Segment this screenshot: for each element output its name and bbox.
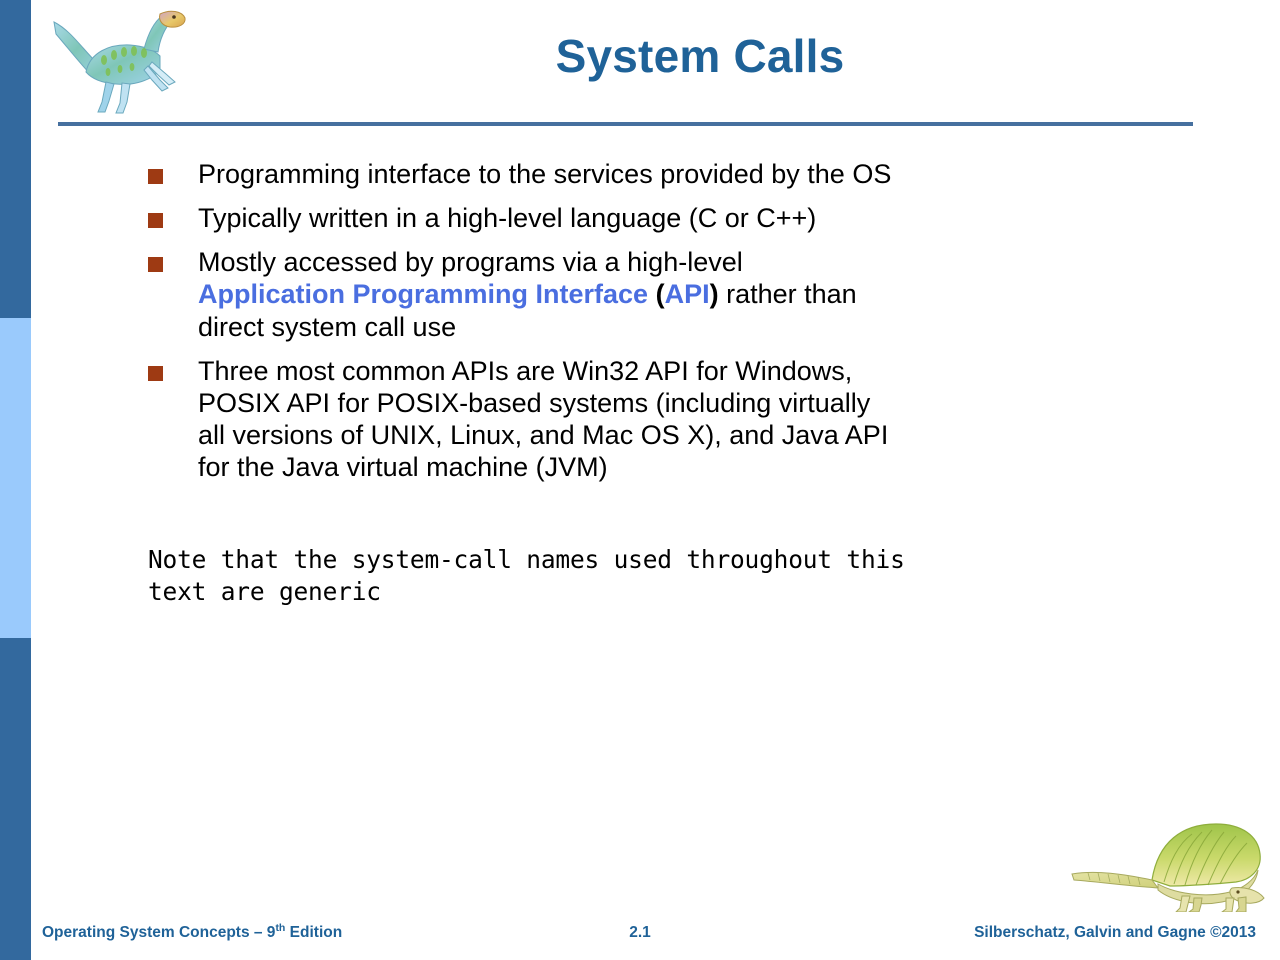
list-item: Three most common APIs are Win32 API for… [148, 355, 1048, 484]
slide-body: Programming interface to the services pr… [0, 140, 1280, 820]
dinosaur-icon [1066, 812, 1266, 912]
bullet-line-tail: rather than [719, 279, 857, 309]
bullet-line: Three most common APIs are Win32 API for… [198, 355, 1048, 387]
bullet-line: Typically written in a high-level langua… [198, 202, 1048, 234]
bullet-square-icon [148, 213, 163, 228]
note-line: text are generic [148, 576, 1068, 608]
bullet-line: POSIX API for POSIX-based systems (inclu… [198, 387, 1048, 419]
slide-header: System Calls [0, 0, 1280, 132]
slide-canvas: System Calls Programming interface to th… [0, 0, 1280, 960]
api-term-highlight: Application Programming Interface [198, 279, 656, 309]
bullet-square-icon [148, 257, 163, 272]
bullet-line: Mostly accessed by programs via a high-l… [198, 246, 1048, 278]
bullet-square-icon [148, 366, 163, 381]
bullet-line: direct system call use [198, 311, 1048, 343]
bullet-line: Application Programming Interface (API) … [198, 278, 1048, 310]
close-paren: ) [710, 279, 719, 309]
list-item: Typically written in a high-level langua… [148, 202, 1048, 234]
bullet-list: Programming interface to the services pr… [148, 158, 1048, 495]
footer-copyright: Silberschatz, Galvin and Gagne ©2013 [974, 924, 1256, 942]
api-abbrev-highlight: API [665, 279, 710, 309]
bullet-line: for the Java virtual machine (JVM) [198, 451, 1048, 483]
note-line: Note that the system-call names used thr… [148, 544, 1068, 576]
note-block: Note that the system-call names used thr… [148, 544, 1068, 609]
title-divider [58, 122, 1193, 126]
list-item: Mostly accessed by programs via a high-l… [148, 246, 1048, 342]
bullet-line: all versions of UNIX, Linux, and Mac OS … [198, 419, 1048, 451]
page-title: System Calls [200, 32, 1200, 80]
slide-footer: Operating System Concepts – 9th Edition … [0, 914, 1280, 960]
bullet-square-icon [148, 169, 163, 184]
dinosaur-icon [48, 4, 188, 116]
bullet-line: Programming interface to the services pr… [198, 158, 1048, 190]
list-item: Programming interface to the services pr… [148, 158, 1048, 190]
open-paren: ( [656, 279, 665, 309]
